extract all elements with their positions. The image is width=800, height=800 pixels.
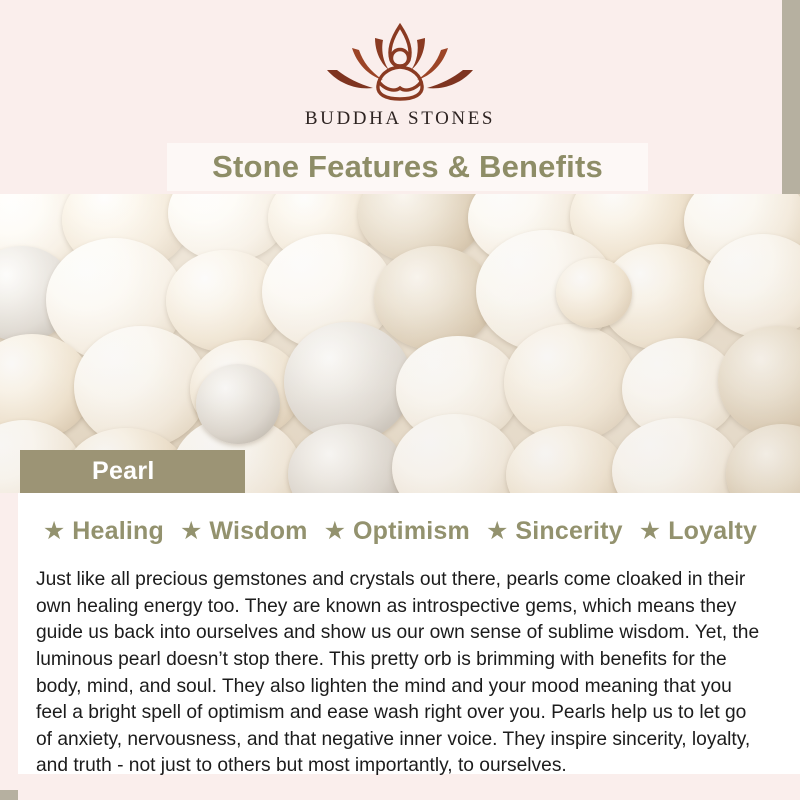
benefit-label: Loyalty [668, 517, 757, 546]
star-icon: ★ [639, 519, 661, 544]
benefit-item-wisdom: ★ Wisdom [180, 517, 308, 546]
stone-description: Just like all precious gemstones and cry… [36, 567, 766, 780]
pearl-stones-photo [0, 194, 800, 493]
lotus-meditation-icon [305, 18, 495, 106]
benefit-label: Optimism [353, 517, 470, 546]
benefit-label: Wisdom [209, 517, 307, 546]
star-icon: ★ [486, 519, 508, 544]
benefits-list: ★ Healing ★ Wisdom ★ Optimism ★ Sincerit… [18, 514, 782, 548]
benefit-item-healing: ★ Healing [43, 517, 164, 546]
brand-logo: BUDDHA STONES [0, 18, 800, 138]
photo-content [0, 194, 800, 493]
benefit-label: Healing [72, 517, 164, 546]
stone-name-band: Pearl [20, 450, 245, 493]
benefit-item-sincerity: ★ Sincerity [486, 517, 623, 546]
title-banner: Stone Features & Benefits [167, 143, 648, 191]
page-title: Stone Features & Benefits [212, 149, 603, 185]
star-icon: ★ [324, 519, 346, 544]
benefit-label: Sincerity [515, 517, 622, 546]
star-icon: ★ [180, 519, 202, 544]
brand-wordmark: BUDDHA STONES [305, 108, 495, 130]
stone-name-label: Pearl [92, 457, 155, 486]
benefit-item-optimism: ★ Optimism [324, 517, 470, 546]
star-icon: ★ [43, 519, 65, 544]
poster-root: BUDDHA STONES Stone Features & Benefits [0, 0, 800, 800]
benefit-item-loyalty: ★ Loyalty [639, 517, 757, 546]
